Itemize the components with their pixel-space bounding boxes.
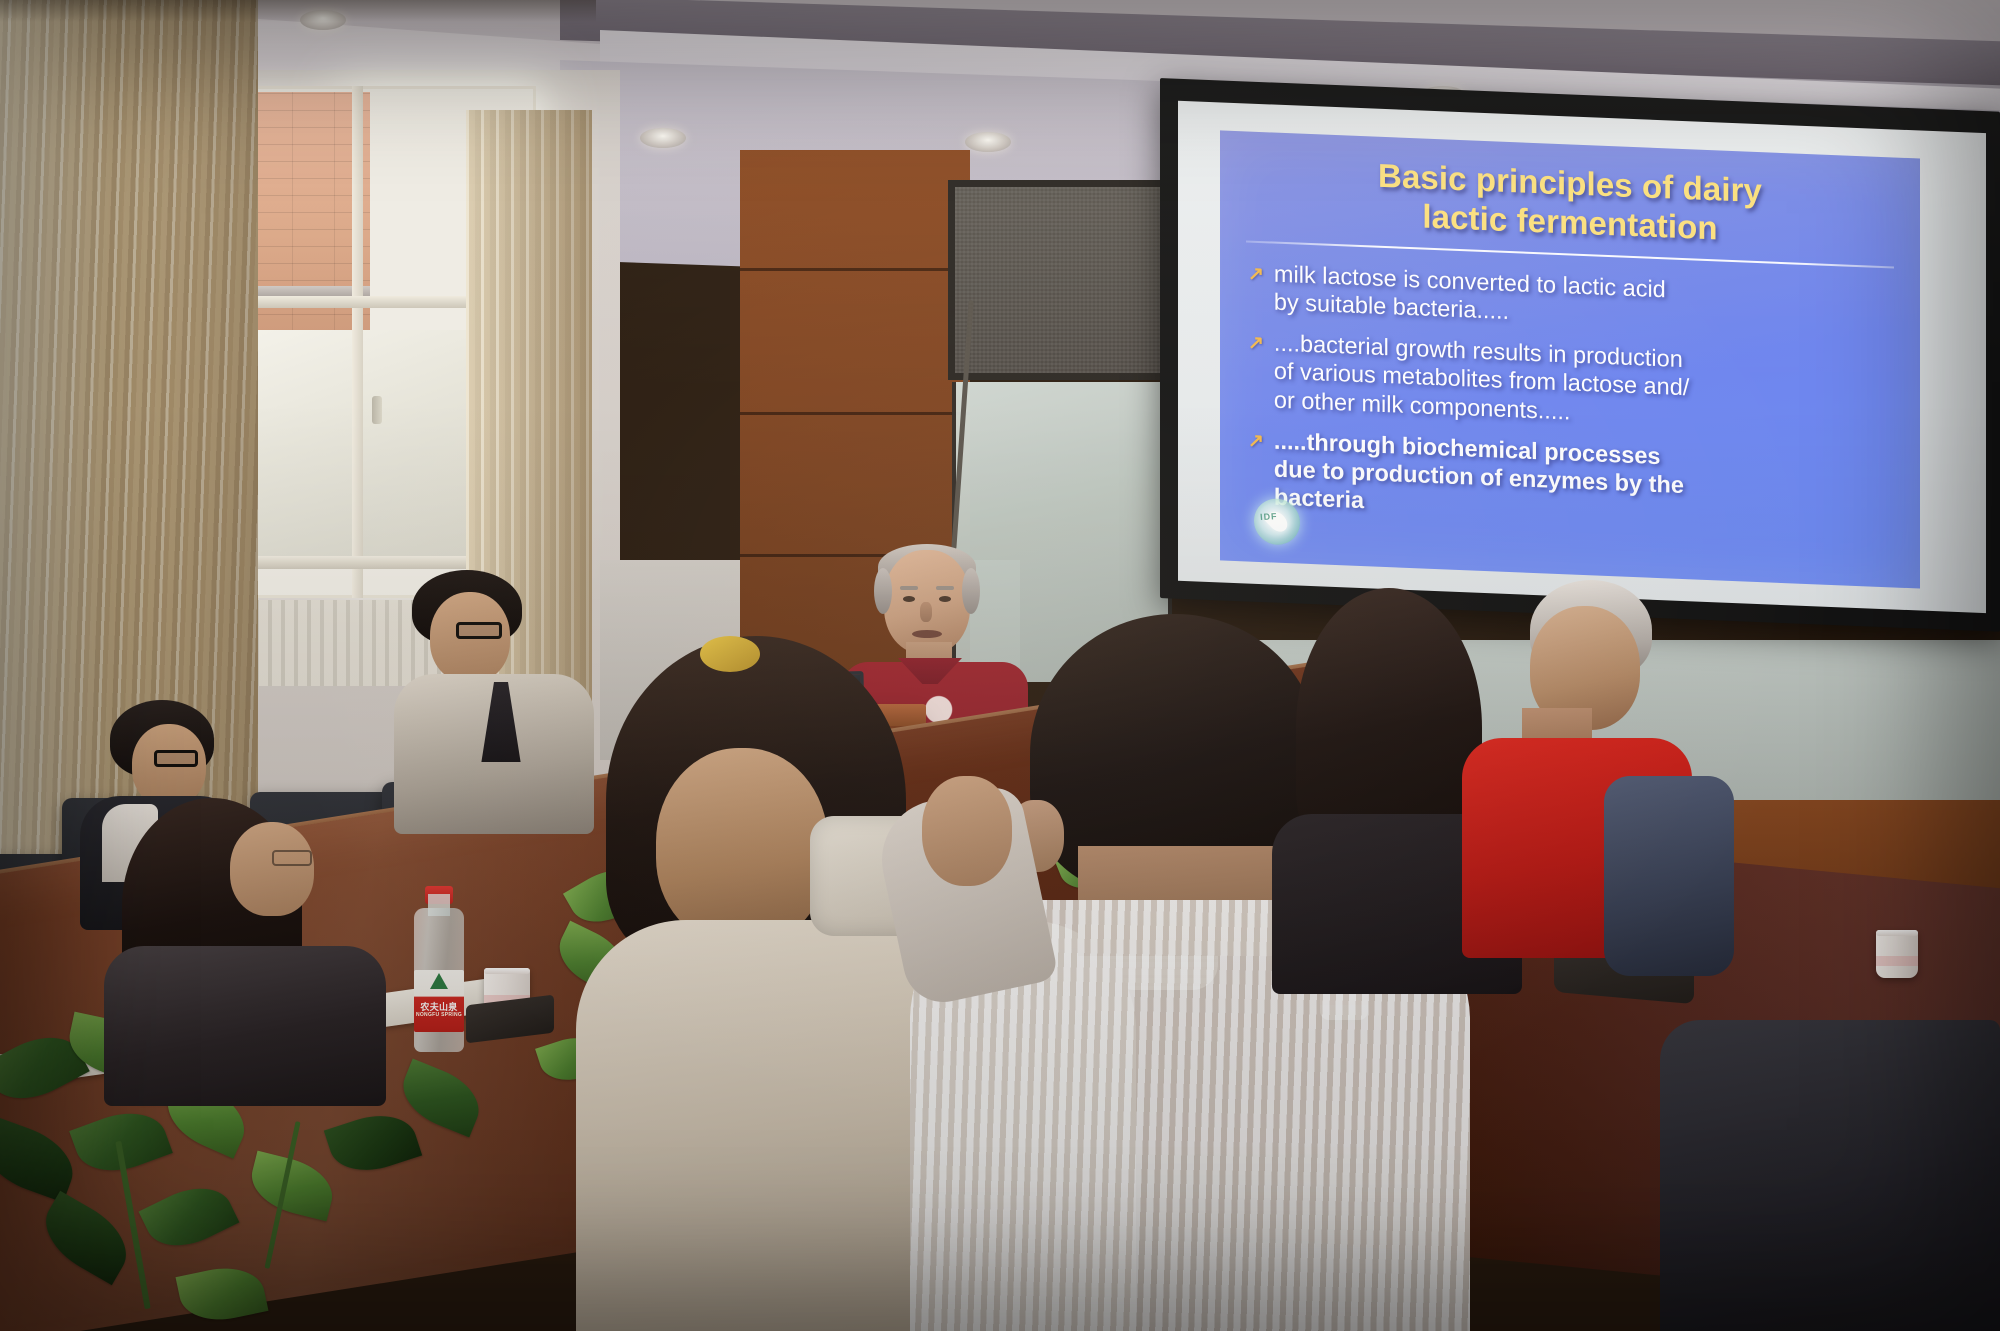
leaf [0, 1115, 83, 1202]
idf-logo-caption: IDF [1260, 510, 1307, 522]
arrow-bullet-icon: ↗ [1248, 334, 1264, 354]
leaf [176, 1260, 269, 1328]
glasses [154, 750, 198, 767]
projection-screen: Basic principles of dairy lactic ferment… [1160, 78, 2000, 632]
curtain-rod-shadow [0, 0, 596, 22]
downlight-icon [965, 132, 1011, 152]
downlight-icon [640, 128, 686, 148]
hair-clip [700, 636, 760, 672]
slide-title: Basic principles of dairy lactic ferment… [1242, 151, 1898, 255]
chair-foreground-right[interactable] [1660, 1020, 2000, 1331]
wood-seam [740, 412, 970, 415]
glasses [272, 850, 312, 866]
leaf [324, 1104, 422, 1182]
arrow-bullet-icon: ↗ [1248, 264, 1264, 284]
attendee-left-seated-glasses [404, 570, 614, 820]
speaker-hair-side [874, 568, 892, 614]
attendee-right-grey-hair-red [1488, 580, 1718, 940]
hand [922, 776, 1012, 886]
arrow-bullet-icon: ↗ [1248, 431, 1264, 451]
bottle-brand-en: NONGFU SPRING [414, 1012, 464, 1018]
head [656, 748, 828, 944]
leaf [32, 1191, 140, 1285]
slide-bullet: ↗ ....bacterial growth results in produc… [1248, 328, 1898, 439]
slide-body: ↗ milk lactose is converted to lactic ac… [1242, 258, 1898, 536]
wood-seam [740, 268, 970, 271]
attendee-left-dark-jacket [122, 798, 412, 1088]
speaker-eye [903, 596, 915, 602]
slide-bullet: ↗ .....through biochemical processes due… [1248, 425, 1898, 536]
paper-cup-right-far[interactable] [1876, 930, 1918, 978]
window-mullion [352, 86, 363, 598]
window-handle[interactable] [372, 396, 382, 424]
speaker-eye [939, 596, 951, 602]
speaker-brow [936, 586, 954, 590]
leaf [139, 1174, 240, 1260]
slide-bullet-text: .....through biochemical processes due t… [1274, 426, 1684, 527]
housing-mesh [955, 187, 1163, 373]
presentation-slide: Basic principles of dairy lactic ferment… [1220, 130, 1920, 588]
projector-housing [948, 180, 1170, 380]
screen-surface: Basic principles of dairy lactic ferment… [1178, 101, 1986, 613]
cup-band [1876, 956, 1918, 966]
slide-bullet-text: milk lactose is converted to lactic acid… [1274, 259, 1666, 331]
slide-bullet: ↗ milk lactose is converted to lactic ac… [1248, 258, 1898, 340]
shoulder-blue [1604, 776, 1734, 976]
conference-room-photo: Basic principles of dairy lactic ferment… [0, 0, 2000, 1331]
glasses [456, 622, 502, 639]
idf-logo-icon: IDF [1254, 498, 1300, 546]
head [230, 822, 314, 916]
torso [104, 946, 386, 1106]
speaker-brow [900, 586, 918, 590]
speaker-nose [920, 602, 932, 622]
mountain-icon [430, 973, 448, 989]
slide-bullet-text: ....bacterial growth results in producti… [1274, 329, 1689, 430]
